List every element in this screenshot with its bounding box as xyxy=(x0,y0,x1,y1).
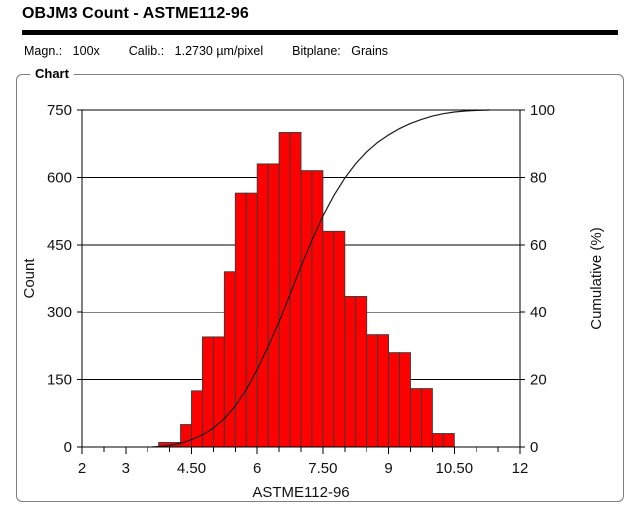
x-axis-title: ASTME112-96 xyxy=(252,484,349,501)
metadata-row: Magn.: 100x Calib.: 1.2730 µm/pixel Bitp… xyxy=(24,44,388,58)
histogram-bar xyxy=(400,353,411,447)
y-axis-left-tick-label: 750 xyxy=(47,102,72,119)
bitplane-value: Grains xyxy=(351,44,388,58)
histogram-bar xyxy=(378,335,389,447)
histogram-bar xyxy=(367,335,378,447)
histogram-bar xyxy=(334,231,345,447)
y-axis-left-tick-label: 150 xyxy=(47,372,72,389)
histogram-bar xyxy=(443,434,454,447)
histogram-bar xyxy=(224,272,235,447)
x-axis-tick-label: 3 xyxy=(122,460,130,477)
magnification-label: Magn.: xyxy=(24,44,62,58)
y-axis-right-tick-label: 80 xyxy=(530,169,547,186)
histogram-bar xyxy=(279,132,290,447)
page-title: OBJM3 Count - ASTME112-96 xyxy=(22,5,249,23)
histogram-bar xyxy=(411,389,422,447)
chart-area: 0150300450600750020406080100234.5067.509… xyxy=(16,74,624,502)
histogram-bar xyxy=(202,337,213,447)
histogram-bar xyxy=(246,193,257,447)
histogram-bar xyxy=(312,171,323,447)
x-axis-tick-label: 2 xyxy=(78,460,86,477)
histogram-bar xyxy=(345,296,356,447)
histogram-bar xyxy=(268,164,279,447)
magnification-value: 100x xyxy=(73,44,100,58)
x-axis-tick-label: 6 xyxy=(253,460,261,477)
bitplane-label: Bitplane: xyxy=(292,44,341,58)
histogram-bar xyxy=(356,296,367,447)
y-axis-left-tick-label: 0 xyxy=(64,439,72,456)
y-axis-right-tick-label: 20 xyxy=(530,372,547,389)
y-axis-left-tick-label: 300 xyxy=(47,304,72,321)
histogram-bar xyxy=(257,164,268,447)
histogram-bar xyxy=(301,171,312,447)
x-axis-tick-label: 4.50 xyxy=(177,460,206,477)
y-axis-right-tick-label: 60 xyxy=(530,237,547,254)
y-axis-left-tick-label: 450 xyxy=(47,237,72,254)
histogram-bar xyxy=(421,389,432,447)
y-axis-right-tick-label: 40 xyxy=(530,304,547,321)
histogram-bar xyxy=(181,425,192,447)
chart-groupbox-legend: Chart xyxy=(30,66,74,82)
x-axis-tick-label: 12 xyxy=(512,460,529,477)
calibration-value: 1.2730 µm/pixel xyxy=(175,44,264,58)
y-axis-left-title: Count xyxy=(21,258,38,299)
histogram-cumulative-chart: 0150300450600750020406080100234.5067.509… xyxy=(16,74,624,502)
histogram-bar xyxy=(235,193,246,447)
y-axis-right-tick-label: 0 xyxy=(530,439,538,456)
x-axis-tick-label: 7.50 xyxy=(308,460,337,477)
y-axis-left-tick-label: 600 xyxy=(47,169,72,186)
y-axis-right-title: Cumulative (%) xyxy=(588,227,605,330)
chart-window: OBJM3 Count - ASTME112-96 Magn.: 100x Ca… xyxy=(0,0,640,515)
title-divider xyxy=(22,30,618,35)
y-axis-right-tick-label: 100 xyxy=(530,102,555,119)
calibration-label: Calib.: xyxy=(129,44,164,58)
histogram-bar xyxy=(432,434,443,447)
histogram-bar xyxy=(389,353,400,447)
histogram-bar xyxy=(323,231,334,447)
histogram-bar xyxy=(213,337,224,447)
x-axis-tick-label: 9 xyxy=(384,460,392,477)
x-axis-tick-label: 10.50 xyxy=(436,460,474,477)
